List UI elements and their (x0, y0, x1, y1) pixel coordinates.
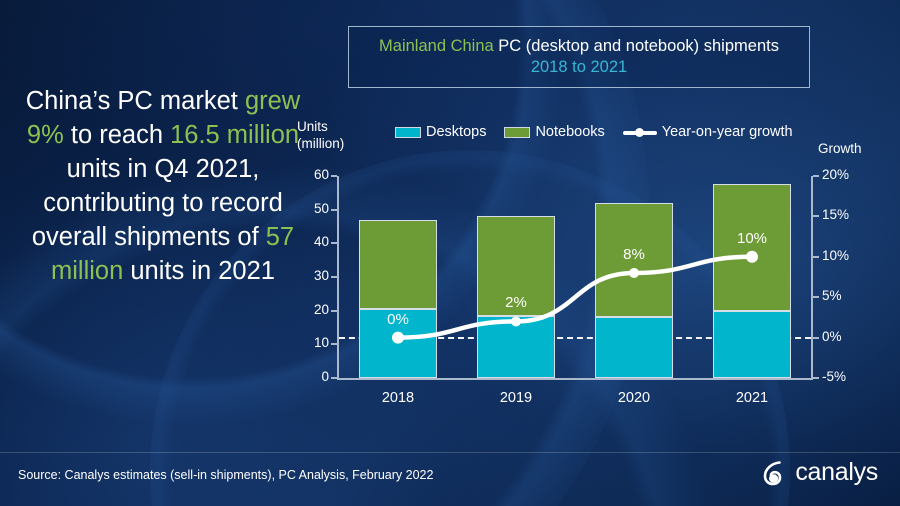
y2-axis-tick-label: 15% (822, 207, 849, 222)
x-axis-label: 2020 (595, 390, 673, 406)
y-axis-tick (331, 276, 337, 278)
y2-axis-line (811, 176, 813, 380)
y2-axis-tick-label: 5% (822, 288, 842, 303)
y2-axis-tick (813, 215, 819, 217)
y-axis-tick (331, 209, 337, 211)
y2-axis-tick (813, 256, 819, 258)
growth-data-label: 0% (363, 311, 433, 328)
growth-data-label: 10% (717, 230, 787, 247)
x-axis-label: 2021 (713, 390, 791, 406)
y-axis-tick (331, 242, 337, 244)
bar-stack[interactable] (713, 176, 791, 378)
source-note: Source: Canalys estimates (sell-in shipm… (18, 468, 433, 482)
bar-stack[interactable] (359, 176, 437, 378)
y-axis-tick (331, 175, 337, 177)
x-axis-label: 2018 (359, 390, 437, 406)
y2-axis-tick (813, 296, 819, 298)
y2-axis-tick (813, 337, 819, 339)
y-axis-tick-label: 0 (297, 369, 329, 384)
y2-axis-tick-label: 0% (822, 329, 842, 344)
y2-axis-tick (813, 175, 819, 177)
y2-axis-tick-label: 20% (822, 167, 849, 182)
growth-line-path (398, 257, 752, 338)
bar-segment-desktops[interactable] (595, 317, 673, 378)
y-axis-tick (331, 310, 337, 312)
y2-axis-tick-label: 10% (822, 248, 849, 263)
slide-root: Mainland China PC (desktop and notebook)… (0, 0, 900, 506)
y-axis-tick-label: 20 (297, 302, 329, 317)
y-axis-tick-label: 40 (297, 234, 329, 249)
y-axis-tick-label: 10 (297, 335, 329, 350)
growth-data-label: 8% (599, 246, 669, 263)
y-axis-tick-label: 50 (297, 201, 329, 216)
x-axis-label: 2019 (477, 390, 555, 406)
y-axis-tick-label: 60 (297, 167, 329, 182)
bar-segment-desktops[interactable] (477, 316, 555, 378)
bar-stack[interactable] (595, 176, 673, 378)
bar-segment-notebooks[interactable] (359, 220, 437, 309)
y-axis-line (337, 176, 339, 380)
canalys-wordmark: canalys (795, 458, 878, 487)
bar-stack[interactable] (477, 176, 555, 378)
footer-divider (0, 452, 900, 453)
y-axis-tick (331, 377, 337, 379)
canalys-mark-icon (762, 460, 788, 486)
bar-segment-notebooks[interactable] (713, 184, 791, 310)
y-axis-tick-label: 30 (297, 268, 329, 283)
canalys-logo: canalys (762, 458, 878, 487)
x-axis-line (337, 378, 813, 380)
y2-axis-tick (813, 377, 819, 379)
chart-plot-area: 0102030405060 -5%0%5%10%15%20% 201820192… (0, 0, 900, 506)
growth-data-label: 2% (481, 294, 551, 311)
y2-axis-tick-label: -5% (822, 369, 846, 384)
y-axis-tick (331, 343, 337, 345)
bar-segment-desktops[interactable] (713, 311, 791, 378)
